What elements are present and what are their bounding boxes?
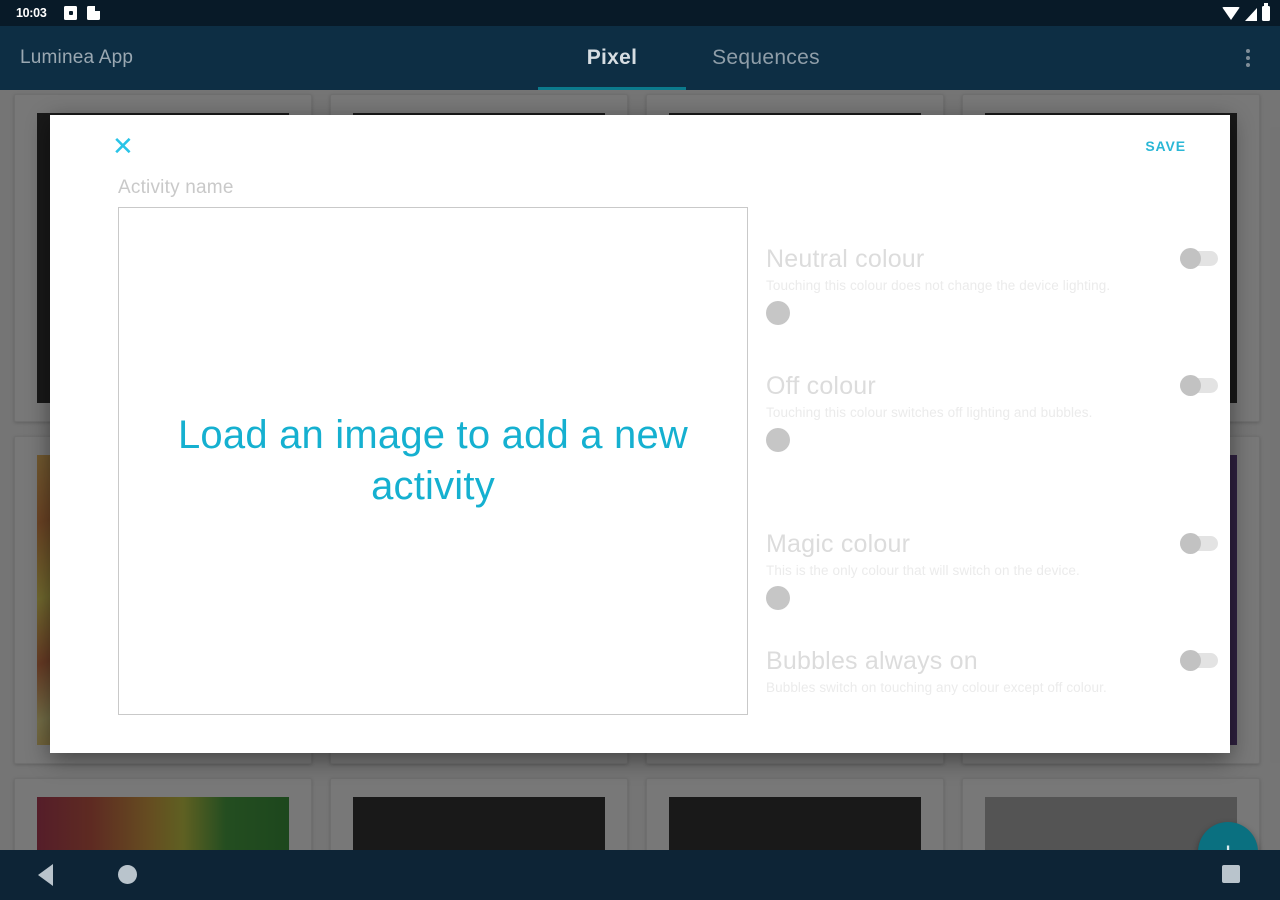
status-bar: 10:03 <box>0 0 1280 26</box>
back-triangle-icon[interactable] <box>38 864 53 886</box>
tab-pixel[interactable]: Pixel <box>538 26 686 90</box>
battery-icon <box>1262 6 1270 21</box>
setting-magic-colour: Magic colour This is the only colour tha… <box>766 530 1218 610</box>
settings-pane: Neutral colour Touching this colour does… <box>720 177 1200 753</box>
save-button[interactable]: SAVE <box>1139 130 1192 162</box>
system-nav-bar <box>0 850 1280 900</box>
setting-toggle[interactable] <box>1180 536 1218 551</box>
colour-swatch[interactable] <box>766 586 790 610</box>
new-activity-dialog: ✕ SAVE Activity name Load an image to ad… <box>50 115 1230 753</box>
setting-title: Neutral colour <box>766 245 1218 274</box>
setting-neutral-colour: Neutral colour Touching this colour does… <box>766 245 1218 325</box>
setting-description: Touching this colour switches off lighti… <box>766 405 1218 420</box>
signal-icon <box>1245 8 1257 21</box>
close-icon[interactable]: ✕ <box>102 127 144 165</box>
setting-description: This is the only colour that will switch… <box>766 563 1218 578</box>
setting-title: Off colour <box>766 372 1218 401</box>
home-circle-icon[interactable] <box>118 865 137 884</box>
wifi-icon <box>1222 7 1240 20</box>
setting-description: Touching this colour does not change the… <box>766 278 1218 293</box>
screenshot-icon <box>64 6 77 20</box>
setting-title: Bubbles always on <box>766 647 1218 676</box>
setting-off-colour: Off colour Touching this colour switches… <box>766 372 1218 452</box>
more-vert-icon[interactable] <box>1234 44 1262 72</box>
app-bar: Luminea App Pixel Sequences <box>0 26 1280 90</box>
setting-toggle[interactable] <box>1180 378 1218 393</box>
clipboard-icon <box>87 6 100 20</box>
setting-description: Bubbles switch on touching any colour ex… <box>766 680 1218 695</box>
status-right-icons <box>1222 6 1270 21</box>
recents-square-icon[interactable] <box>1222 865 1240 883</box>
status-time: 10:03 <box>16 6 46 20</box>
setting-title: Magic colour <box>766 530 1218 559</box>
status-left-icons <box>64 6 100 20</box>
setting-toggle[interactable] <box>1180 251 1218 266</box>
setting-toggle[interactable] <box>1180 653 1218 668</box>
dialog-header: ✕ SAVE <box>50 115 1230 177</box>
setting-bubbles-always-on: Bubbles always on Bubbles switch on touc… <box>766 647 1218 695</box>
image-pane: Activity name Load an image to add a new… <box>50 177 720 753</box>
page-title: Luminea App <box>20 47 133 69</box>
tab-bar: Pixel Sequences <box>538 26 846 90</box>
colour-swatch[interactable] <box>766 428 790 452</box>
tab-sequences[interactable]: Sequences <box>686 26 846 90</box>
app-root: 10:03 Luminea App Pixel Sequences <box>0 0 1280 900</box>
colour-swatch[interactable] <box>766 301 790 325</box>
image-dropzone[interactable]: Load an image to add a new activity <box>118 207 748 715</box>
dialog-body: Activity name Load an image to add a new… <box>50 177 1230 753</box>
dropzone-label: Load an image to add a new activity <box>133 410 733 512</box>
activity-name-label: Activity name <box>118 177 720 199</box>
